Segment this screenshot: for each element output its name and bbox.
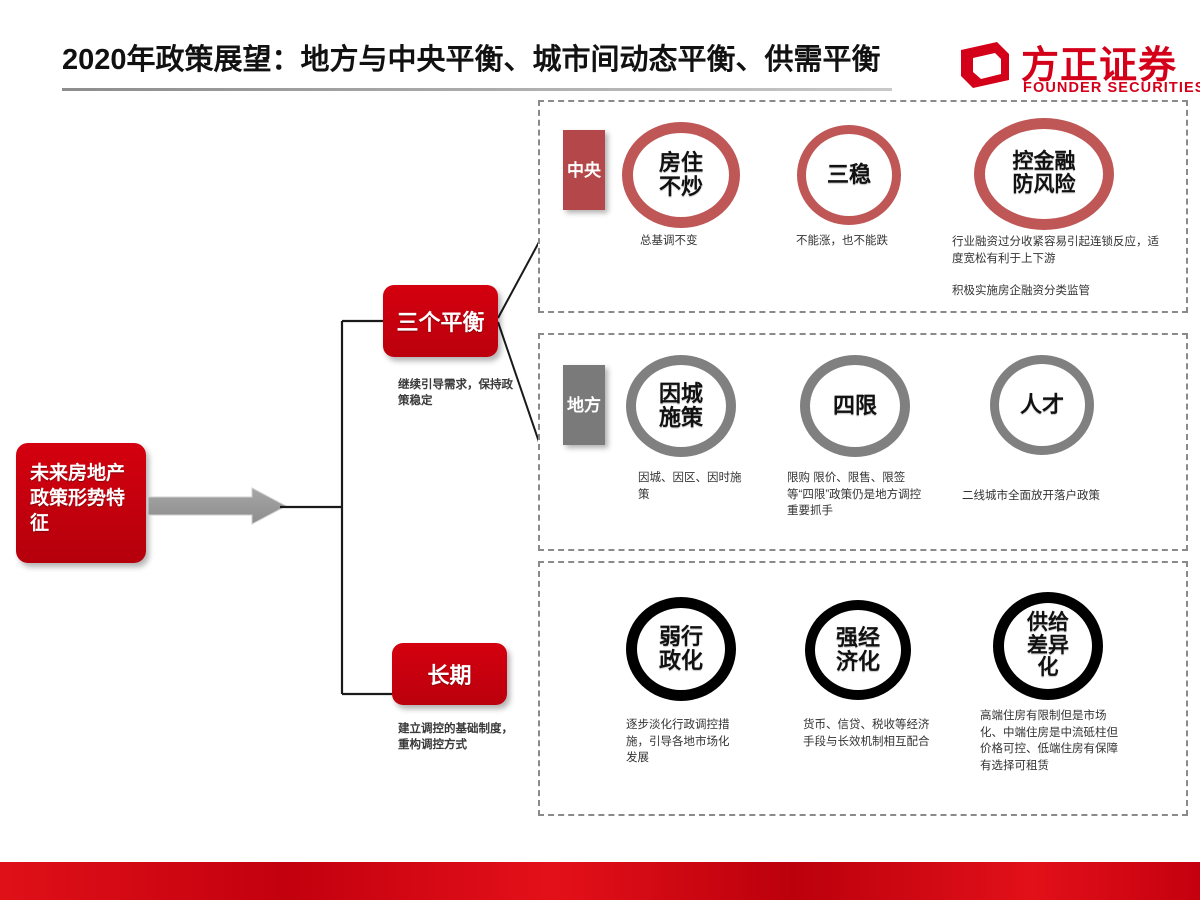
circle-label: 强经济化 [836,626,880,674]
branch-caption-long-term: 建立调控的基础制度，重构调控方式 [398,721,518,753]
circle-label: 弱行政化 [659,625,703,673]
caption-kongjinrong: 行业融资过分收紧容易引起连锁反应，适度宽松有利于上下游 [952,234,1170,267]
circle-sanwen[interactable]: 三稳 [797,125,901,225]
circle-label: 三稳 [827,163,871,187]
founder-securities-logo: 方正证券 FOUNDER SECURITIES [957,36,1182,98]
circle-ruoxingzhenghua[interactable]: 弱行政化 [626,597,736,701]
circle-sixian[interactable]: 四限 [800,355,910,457]
caption-sanwen: 不能涨，也不能跌 [796,233,946,250]
caption-yinchengshice: 因城、因区、因时施策 [638,470,748,503]
circle-kongjinrong[interactable]: 控金融防风险 [974,118,1114,230]
caption-ruoxingzhenghua: 逐步淡化行政调控措施，引导各地市场化发展 [626,717,736,767]
circle-label: 人才 [1020,393,1064,417]
circle-fangzhubuchao[interactable]: 房住不炒 [622,122,740,228]
badge-local: 地方 [563,365,605,445]
circle-gongjichayihua[interactable]: 供给差异化 [993,592,1103,700]
title-underline [62,88,892,91]
circle-label: 四限 [833,394,877,418]
root-node-box[interactable]: 未来房地产政策形势特征 [16,443,146,563]
page-title: 2020年政策展望：地方与中央平衡、城市间动态平衡、供需平衡 [62,36,942,78]
flow-arrow-icon [148,487,288,525]
branch-box-three-balances[interactable]: 三个平衡 [383,285,498,357]
caption-qiangjingjihua: 货币、信贷、税收等经济手段与长效机制相互配合 [803,717,933,750]
caption-gongjichayihua: 高端住房有限制但是市场化、中端住房是中流砥柱但价格可控、低端住房有保障有选择可租… [980,708,1125,774]
circle-yinchengshice[interactable]: 因城施策 [626,355,736,457]
circle-label: 供给差异化 [1027,612,1069,680]
logo-mark-icon [957,40,1013,90]
branch-box-long-term[interactable]: 长期 [392,643,507,705]
caption2-kongjinrong: 积极实施房企融资分类监管 [952,283,1170,300]
circle-label: 房住不炒 [659,151,703,199]
branch-caption-three-balances: 继续引导需求，保持政策稳定 [398,377,518,409]
caption-sixian: 限购 限价、限售、限签等“四限”政策仍是地方调控重要抓手 [787,470,932,520]
circle-label: 因城施策 [659,382,703,430]
slide-canvas: 2020年政策展望：地方与中央平衡、城市间动态平衡、供需平衡 方正证券 FOUN… [0,0,1200,900]
caption-rencai: 二线城市全面放开落户政策 [962,488,1122,505]
circle-rencai[interactable]: 人才 [990,355,1094,455]
caption-fangzhubuchao: 总基调不变 [640,233,770,250]
connector-lines [280,100,580,720]
badge-central: 中央 [563,130,605,210]
logo-text-en: FOUNDER SECURITIES [1023,80,1200,96]
circle-qiangjingjihua[interactable]: 强经济化 [805,600,911,700]
footer-band [0,862,1200,900]
circle-label: 控金融防风险 [1013,151,1076,196]
